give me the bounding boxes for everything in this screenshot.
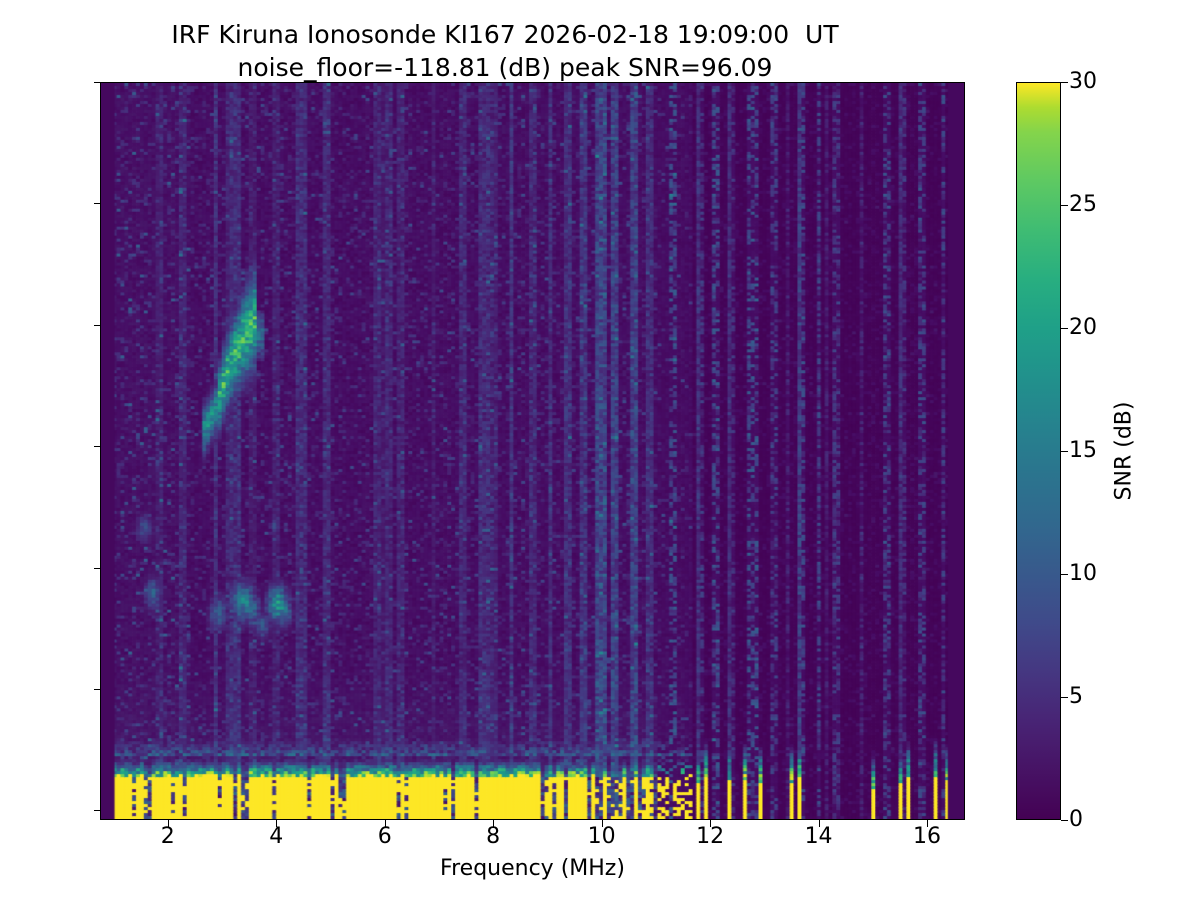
y-tick-mark: [94, 810, 101, 811]
colorbar-tick-mark: [1061, 697, 1068, 698]
x-tick-mark: [385, 820, 386, 827]
x-tick-mark: [819, 820, 820, 827]
x-axis-label: Frequency (MHz): [100, 856, 965, 881]
y-tick-mark: [94, 689, 101, 690]
colorbar-tick-label: 25: [1069, 194, 1097, 216]
x-tick-mark: [710, 820, 711, 827]
x-tick-label: 12: [696, 824, 724, 850]
x-tick-label: 16: [913, 824, 941, 850]
x-tick-label: 8: [486, 824, 500, 850]
title-line-2: noise_floor=-118.81 (dB) peak SNR=96.09: [0, 51, 1010, 84]
x-tick-label: 4: [269, 824, 283, 850]
x-tick-mark: [168, 820, 169, 827]
colorbar-tick-label: 5: [1069, 686, 1083, 708]
x-tick-mark: [276, 820, 277, 827]
plot-axes: [100, 82, 965, 820]
colorbar-tick-mark: [1061, 574, 1068, 575]
colorbar-tick-label: 0: [1069, 809, 1083, 831]
x-tick-label: 10: [588, 824, 616, 850]
x-tick-mark: [493, 820, 494, 827]
y-tick-mark: [94, 82, 101, 83]
ionogram-figure: IRF Kiruna Ionosonde KI167 2026-02-18 19…: [0, 0, 1200, 900]
x-tick-label: 14: [805, 824, 833, 850]
y-tick-mark: [94, 325, 101, 326]
title-line-1: IRF Kiruna Ionosonde KI167 2026-02-18 19…: [0, 18, 1010, 51]
colorbar-tick-label: 30: [1069, 71, 1097, 93]
x-tick-mark: [602, 820, 603, 827]
colorbar-tick-mark: [1061, 820, 1068, 821]
colorbar-tick-label: 15: [1069, 440, 1097, 462]
x-tick-label: 6: [378, 824, 392, 850]
colorbar-tick-mark: [1061, 451, 1068, 452]
x-tick-mark: [927, 820, 928, 827]
colorbar-label: SNR (dB): [1112, 402, 1137, 501]
figure-title: IRF Kiruna Ionosonde KI167 2026-02-18 19…: [0, 18, 1010, 84]
x-tick-label: 2: [161, 824, 175, 850]
colorbar: [1016, 82, 1061, 820]
colorbar-tick-mark: [1061, 82, 1068, 83]
colorbar-tick-mark: [1061, 328, 1068, 329]
colorbar-tick-label: 20: [1069, 317, 1097, 339]
colorbar-tick-mark: [1061, 205, 1068, 206]
ionogram-heatmap: [101, 83, 964, 819]
y-tick-mark: [94, 446, 101, 447]
colorbar-tick-label: 10: [1069, 563, 1097, 585]
y-tick-mark: [94, 203, 101, 204]
y-tick-mark: [94, 568, 101, 569]
